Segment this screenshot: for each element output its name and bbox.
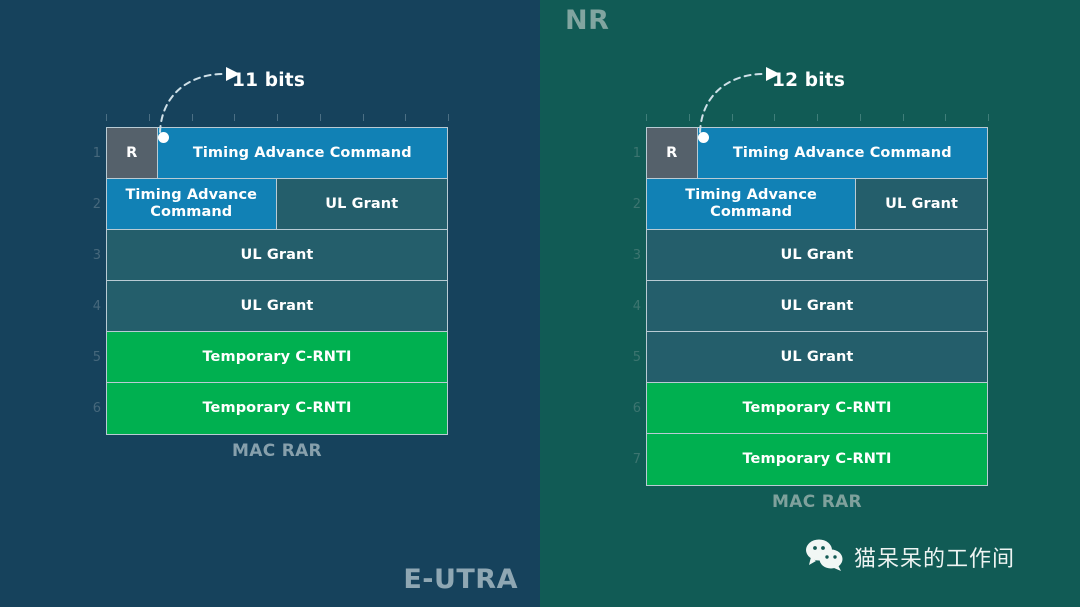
- field-cell: UL Grant: [276, 179, 447, 229]
- row-number: 5: [625, 332, 641, 383]
- tick-mark: [732, 114, 733, 121]
- table-row: 5UL Grant: [647, 332, 987, 383]
- field-cell: R: [647, 128, 697, 178]
- bits-label-e-utra: 11 bits: [232, 70, 305, 91]
- mac-rar-diagram-e-utra: 1RTiming Advance Command2Timing Advance …: [106, 127, 448, 435]
- row-number: 3: [625, 230, 641, 281]
- row-number: 7: [625, 434, 641, 485]
- tick-mark: [106, 114, 107, 121]
- tick-mark: [320, 114, 321, 121]
- table-row: 6Temporary C-RNTI: [647, 383, 987, 434]
- tick-mark: [860, 114, 861, 121]
- field-cell: UL Grant: [107, 281, 447, 331]
- tick-mark: [234, 114, 235, 121]
- field-cell: Timing Advance Command: [107, 179, 276, 229]
- table-row: 4UL Grant: [647, 281, 987, 332]
- bits-label-nr: 12 bits: [772, 70, 845, 91]
- diagram-caption-nr: MAC RAR: [646, 492, 988, 512]
- row-number: 6: [85, 383, 101, 434]
- diagram-caption-e-utra: MAC RAR: [106, 441, 448, 461]
- table-row: 6Temporary C-RNTI: [107, 383, 447, 434]
- field-cell: UL Grant: [855, 179, 987, 229]
- table-row: 7Temporary C-RNTI: [647, 434, 987, 485]
- table-row: 5Temporary C-RNTI: [107, 332, 447, 383]
- table-row: 2Timing Advance CommandUL Grant: [647, 179, 987, 230]
- mac-rar-diagram-nr: 1RTiming Advance Command2Timing Advance …: [646, 127, 988, 486]
- tick-mark: [448, 114, 449, 121]
- field-cell: Temporary C-RNTI: [107, 383, 447, 434]
- row-number: 6: [625, 383, 641, 434]
- row-number: 2: [625, 179, 641, 230]
- field-cell: Timing Advance Command: [697, 128, 987, 178]
- field-cell: R: [107, 128, 157, 178]
- row-number: 1: [625, 128, 641, 179]
- panel-title-e-utra: E-UTRA: [403, 564, 518, 595]
- panel-title-nr: NR: [565, 5, 609, 36]
- field-cell: Timing Advance Command: [157, 128, 447, 178]
- row-number: 5: [85, 332, 101, 383]
- tick-mark: [988, 114, 989, 121]
- field-cell: Temporary C-RNTI: [647, 434, 987, 485]
- wechat-icon: [805, 538, 845, 576]
- panel-e-utra: E-UTRA 1RTiming Advance Command2Timing A…: [0, 0, 540, 607]
- panel-nr: NR 1RTiming Advance Command2Timing Advan…: [540, 0, 1080, 607]
- field-cell: Temporary C-RNTI: [647, 383, 987, 433]
- tick-marks-e-utra: [106, 114, 448, 123]
- mac-rar-table-nr: 1RTiming Advance Command2Timing Advance …: [646, 127, 988, 486]
- tick-mark: [817, 114, 818, 121]
- table-row: 3UL Grant: [647, 230, 987, 281]
- table-row: 3UL Grant: [107, 230, 447, 281]
- table-row: 2Timing Advance CommandUL Grant: [107, 179, 447, 230]
- tick-mark: [363, 114, 364, 121]
- table-row: 4UL Grant: [107, 281, 447, 332]
- field-cell: UL Grant: [647, 281, 987, 331]
- mac-rar-table-e-utra: 1RTiming Advance Command2Timing Advance …: [106, 127, 448, 435]
- row-number: 4: [625, 281, 641, 332]
- tick-mark: [774, 114, 775, 121]
- row-number: 4: [85, 281, 101, 332]
- tick-mark: [945, 114, 946, 121]
- tick-mark: [903, 114, 904, 121]
- tick-mark: [149, 114, 150, 121]
- slide-root: E-UTRA 1RTiming Advance Command2Timing A…: [0, 0, 1080, 607]
- field-cell: UL Grant: [647, 332, 987, 382]
- field-cell: UL Grant: [647, 230, 987, 280]
- field-cell: UL Grant: [107, 230, 447, 280]
- callout-anchor-dot-nr: [698, 132, 709, 143]
- field-cell: Temporary C-RNTI: [107, 332, 447, 382]
- row-number: 3: [85, 230, 101, 281]
- tick-marks-nr: [646, 114, 988, 123]
- tick-mark: [689, 114, 690, 121]
- tick-mark: [646, 114, 647, 121]
- callout-anchor-dot-e-utra: [158, 132, 169, 143]
- tick-mark: [192, 114, 193, 121]
- wechat-watermark: 猫呆呆的工作间: [805, 538, 1015, 576]
- wechat-account-name: 猫呆呆的工作间: [854, 541, 1015, 573]
- tick-mark: [405, 114, 406, 121]
- row-number: 1: [85, 128, 101, 179]
- row-number: 2: [85, 179, 101, 230]
- tick-mark: [277, 114, 278, 121]
- field-cell: Timing Advance Command: [647, 179, 855, 229]
